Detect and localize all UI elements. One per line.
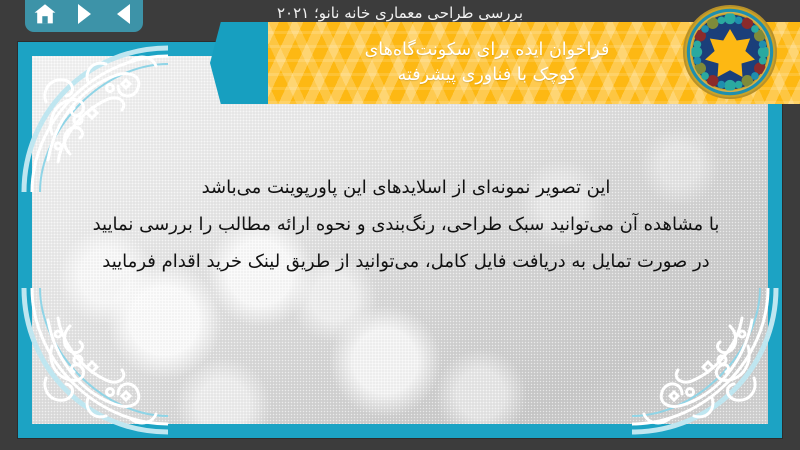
- slide-navigation-bar: [25, 0, 143, 32]
- home-icon: [33, 3, 57, 25]
- next-slide-button[interactable]: [71, 1, 97, 27]
- triangle-right-icon: [78, 4, 91, 24]
- persian-medallion-ornament: [682, 4, 778, 100]
- slide-body-text: این تصویر نمونه‌ای از اسلایدهای این پاور…: [78, 170, 734, 281]
- body-line-1: این تصویر نمونه‌ای از اسلایدهای این پاور…: [78, 170, 734, 207]
- presentation-viewer: بررسی طراحی معماری خانه نانو؛ ۲۰۲۱: [0, 0, 800, 450]
- body-line-3: در صورت تمایل به دریافت فایل کامل، می‌تو…: [78, 244, 734, 281]
- banner-line-1: فراخوان ایده برای سکونت‌گاه‌های: [365, 38, 610, 63]
- home-button[interactable]: [32, 1, 58, 27]
- previous-slide-button[interactable]: [110, 1, 136, 27]
- banner-line-2: کوچک با فناوری پیشرفته: [398, 63, 577, 88]
- body-line-2: با مشاهده آن می‌توانید سبک طراحی، رنگ‌بن…: [78, 207, 734, 244]
- triangle-left-icon: [117, 4, 130, 24]
